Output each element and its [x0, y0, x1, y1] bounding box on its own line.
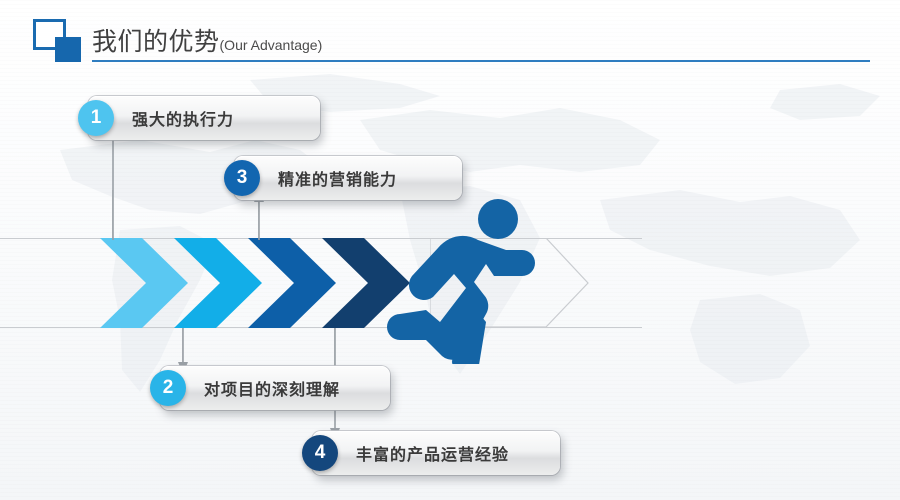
page-title: 我们的优势(Our Advantage) [92, 22, 322, 58]
callout-1-badge: 1 [78, 100, 114, 136]
callout-1-label: 强大的执行力 [132, 106, 234, 130]
connector-up-1 [105, 128, 121, 240]
callout-1[interactable]: 1 强大的执行力 [88, 96, 320, 140]
running-man-icon [382, 196, 548, 364]
slide-canvas: 我们的优势(Our Advantage) 1 强大的执 [0, 0, 900, 500]
callout-4-label: 丰富的产品运营经验 [356, 441, 509, 465]
page-title-cn: 我们的优势 [92, 27, 220, 56]
callout-4-badge: 4 [302, 435, 338, 471]
callout-2-label: 对项目的深刻理解 [204, 376, 340, 400]
callout-3-label: 精准的营销能力 [278, 166, 397, 190]
page-title-en: (Our Advantage) [220, 37, 323, 53]
callout-4[interactable]: 4 丰富的产品运营经验 [312, 431, 560, 475]
callout-3-badge: 3 [224, 160, 260, 196]
callout-3[interactable]: 3 精准的营销能力 [234, 156, 462, 200]
logo-filled-square [55, 37, 81, 62]
square-logo-icon [33, 19, 83, 61]
title-underline [92, 60, 870, 62]
callout-2-badge: 2 [150, 370, 186, 406]
callout-2[interactable]: 2 对项目的深刻理解 [160, 366, 390, 410]
